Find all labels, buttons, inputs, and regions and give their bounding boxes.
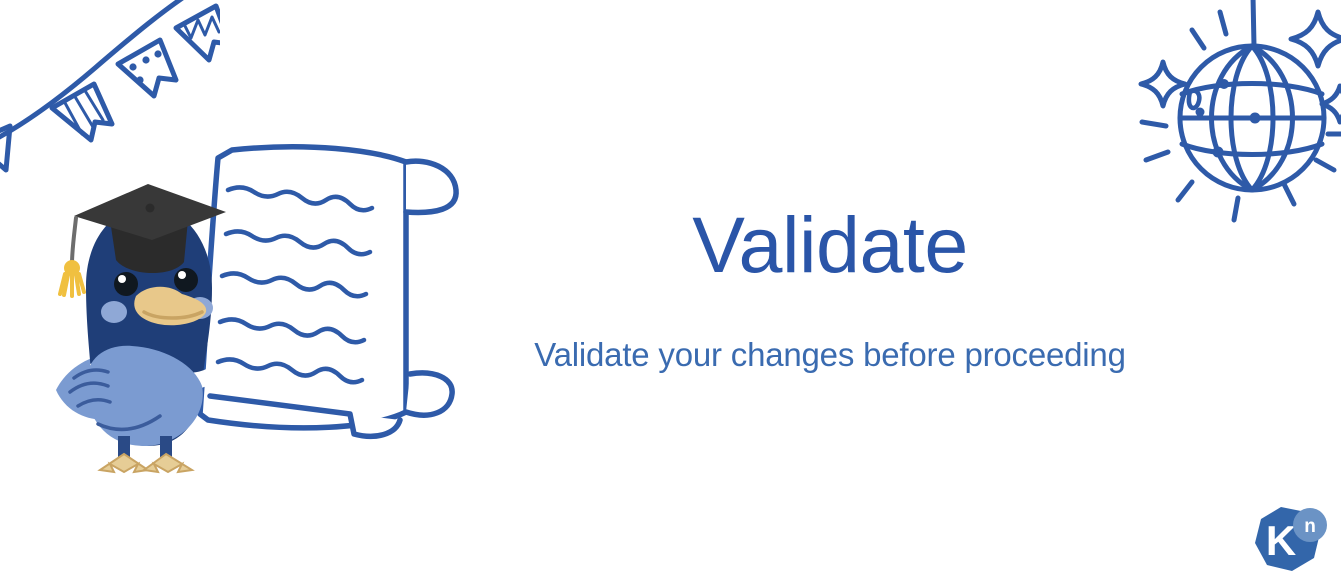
graduation-cap-cup [110, 220, 188, 273]
bird-foot-right [144, 454, 192, 472]
bird-beak-line [144, 312, 202, 318]
logo-secondary-letter: n [1304, 516, 1316, 537]
bird-neck-band [90, 359, 210, 390]
bird-tail [56, 354, 144, 420]
scroll-text-lines [218, 187, 372, 382]
graduate-bird-mascot-icon [52, 178, 252, 474]
disco-ball-icon [1128, 0, 1341, 230]
title-block: Validate Validate your changes before pr… [470, 205, 1190, 371]
graduation-cap-cord [72, 218, 76, 264]
slide-canvas: Validate Validate your changes before pr… [0, 0, 1341, 585]
graduation-cap-tassel [60, 274, 84, 296]
bird-wing-lines [70, 370, 160, 429]
party-bunting-icon [0, 0, 220, 183]
logo-primary-letter: K [1266, 517, 1296, 564]
bird-leg-left [118, 436, 130, 458]
disco-ball-facet-dots [1196, 79, 1261, 158]
bird-eye-right [174, 268, 198, 292]
page-title: Validate [470, 205, 1190, 284]
certificate-scroll-icon [178, 128, 478, 468]
disco-ball-highlight [1189, 91, 1199, 108]
bird-eye-glint-left [118, 275, 126, 283]
graduation-cap-button [146, 204, 155, 213]
bird-cheek-right [187, 297, 213, 319]
bird-eye-left [114, 272, 138, 296]
graduation-cap-knot [64, 260, 80, 276]
bird-cheek-left [101, 301, 127, 323]
bird-leg-right [160, 436, 172, 458]
bird-eye-glint-right [178, 271, 186, 279]
page-subtitle: Validate your changes before proceeding [470, 284, 1190, 371]
bunting-dots [129, 50, 161, 83]
bird-body [86, 206, 212, 446]
graduation-cap-board [74, 184, 226, 240]
brand-logo[interactable]: K n [1248, 503, 1330, 579]
bird-beak [134, 287, 206, 326]
bird-foot-left [100, 454, 148, 472]
bird-chest [86, 346, 203, 446]
